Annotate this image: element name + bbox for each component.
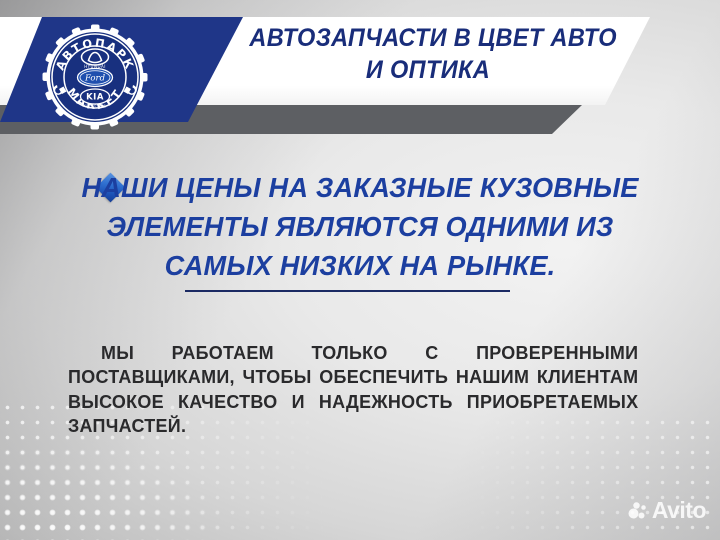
- avito-dots-icon: [628, 501, 648, 521]
- ford-logo-icon: Ford: [78, 69, 113, 87]
- headline-line-1: НАШИ ЦЕНЫ НА ЗАКАЗНЫЕ КУЗОВНЫЕ: [69, 168, 651, 207]
- svg-text:KIA: KIA: [86, 93, 104, 103]
- body-paragraph: МЫ РАБОТАЕМ ТОЛЬКО С ПРОВЕРЕННЫМИ ПОСТАВ…: [68, 341, 638, 464]
- avito-watermark-label: Avito: [652, 499, 706, 522]
- kia-logo-icon: KIA KIA MOTORS: [81, 89, 110, 108]
- headline-line-2: ЭЛЕМЕНТЫ ЯВЛЯЮТСЯ ОДНИМИ ИЗ: [69, 207, 651, 246]
- svg-text:KIA MOTORS: KIA MOTORS: [84, 104, 106, 108]
- svg-text:Ford: Ford: [84, 74, 106, 84]
- company-logo: АВТОПАРК MARKET HYUNDAI Ford: [42, 24, 148, 130]
- hyundai-logo-icon: HYUNDAI: [82, 49, 109, 69]
- headline-line-3: САМЫХ НИЗКИХ НА РЫНКЕ.: [69, 246, 651, 285]
- headline-block: НАШИ ЦЕНЫ НА ЗАКАЗНЫЕ КУЗОВНЫЕ ЭЛЕМЕНТЫ …: [60, 168, 660, 285]
- headline-underline: [185, 290, 510, 292]
- header-title-line-1: АВТОЗАПЧАСТИ В ЦВЕТ АВТО: [249, 22, 606, 54]
- advert-slide: АВТОПАРК MARKET HYUNDAI Ford: [0, 0, 720, 540]
- header-title: АВТОЗАПЧАСТИ В ЦВЕТ АВТО И ОПТИКА: [249, 22, 606, 86]
- header-banner: АВТОПАРК MARKET HYUNDAI Ford: [0, 0, 720, 140]
- header-title-line-2: И ОПТИКА: [249, 54, 606, 86]
- avito-watermark: Avito: [628, 499, 706, 522]
